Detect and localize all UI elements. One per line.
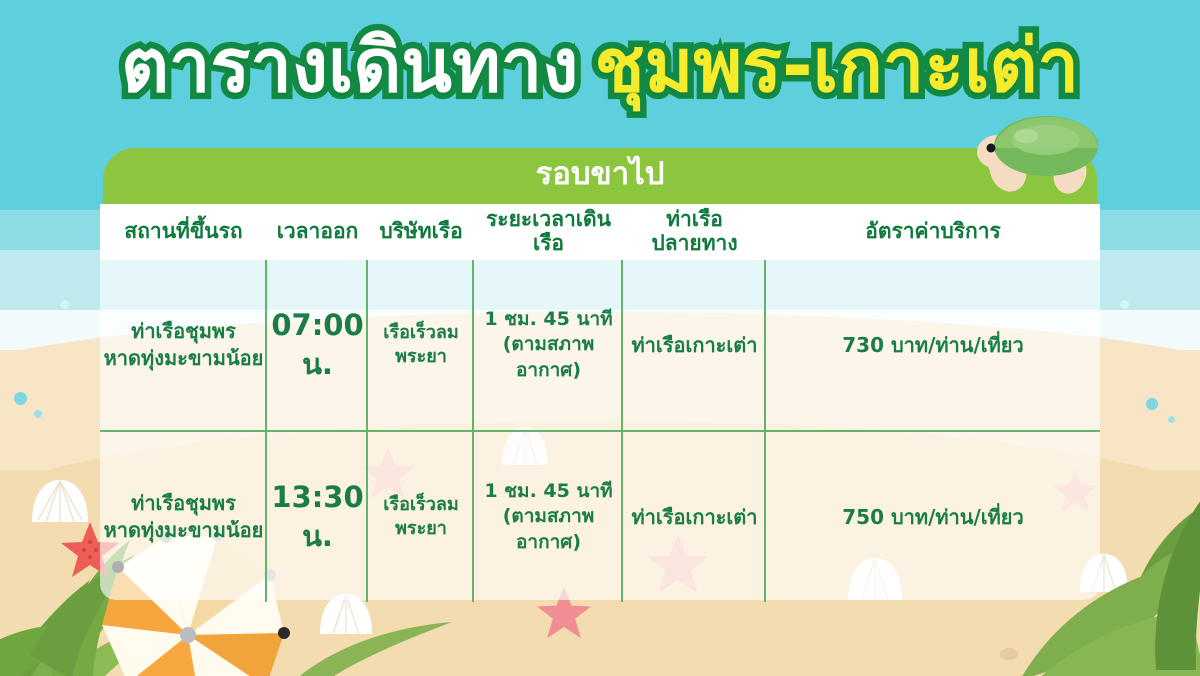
cell-operator-value: เรือเร็วลมพระยา [368,321,474,370]
cell-departure-time: 07:00 น. [267,260,368,430]
cell-origin-line1: ท่าเรือชุมพร [104,318,264,345]
schedule-body: ท่าเรือชุมพร หาดทุ่งมะขามน้อย 07:00 น. เ… [100,260,1100,600]
bubble-icon [1146,398,1158,410]
cell-origin-line2: หาดทุ่งมะขามน้อย [104,517,264,544]
column-header-departure-time-line1: เวลาออก [277,220,359,244]
cell-operator-value: เรือเร็วลมพระยา [368,493,474,542]
cell-fare-value: 730 บาท/ท่าน/เที่ยว [842,332,1023,359]
cell-operator: เรือเร็วลมพระยา [368,260,474,430]
schedule-banner-label: รอบขาไป [536,159,665,193]
sea-turtle-icon [962,108,1112,204]
cell-origin-line1: ท่าเรือชุมพร [104,490,264,517]
column-header-origin-line1: สถานที่ขึ้นรถ [124,220,242,244]
palm-leaf-icon [1096,470,1200,670]
cell-destination-value: ท่าเรือเกาะเต่า [632,504,758,531]
cell-duration-line1: 1 ชม. 45 นาที [474,307,623,333]
bubble-icon [34,410,42,418]
column-header-destination-line2: ปลายทาง [651,232,737,256]
cell-fare-value: 750 บาท/ท่าน/เที่ยว [842,504,1023,531]
poster-canvas: ตารางเดินทางชุมพร-เกาะเต่า รอบขาไป สถานท… [0,0,1200,676]
cell-duration: 1 ชม. 45 นาที (ตามสภาพอากาศ) [474,432,623,602]
cell-departure-time: 13:30 น. [267,432,368,602]
column-header-origin: สถานที่ขึ้นรถ [100,204,267,260]
cell-destination-value: ท่าเรือเกาะเต่า [632,332,758,359]
column-header-fare-line1: อัตราค่าบริการ [865,220,1001,244]
column-header-destination-line1: ท่าเรือ [651,208,737,232]
cell-operator: เรือเร็วลมพระยา [368,432,474,602]
table-row: ท่าเรือชุมพร หาดทุ่งมะขามน้อย 13:30 น. เ… [100,430,1100,602]
table-row: ท่าเรือชุมพร หาดทุ่งมะขามน้อย 07:00 น. เ… [100,260,1100,430]
bubble-icon [60,300,69,309]
poster-title: ตารางเดินทางชุมพร-เกาะเต่า [0,24,1200,109]
title-part-route: ชุมพร-เกาะเต่า [594,24,1079,109]
seashell-icon [30,478,90,526]
cell-origin: ท่าเรือชุมพร หาดทุ่งมะขามน้อย [100,432,267,602]
title-part-primary: ตารางเดินทาง [121,24,578,109]
cell-origin: ท่าเรือชุมพร หาดทุ่งมะขามน้อย [100,260,267,430]
cell-duration-line2: (ตามสภาพอากาศ) [474,504,623,555]
column-header-destination: ท่าเรือ ปลายทาง [623,204,766,260]
schedule-card: รอบขาไป สถานที่ขึ้นรถ เวลาออก [100,148,1100,600]
cell-duration-line2: (ตามสภาพอากาศ) [474,332,623,383]
cell-origin-line2: หาดทุ่งมะขามน้อย [104,345,264,372]
schedule-banner: รอบขาไป [103,148,1097,204]
palm-leaf-icon [284,610,454,676]
cell-departure-time-value: 07:00 น. [267,306,368,384]
cell-destination: ท่าเรือเกาะเต่า [623,432,766,602]
bubble-icon [1168,416,1175,423]
column-header-operator-line1: บริษัทเรือ [379,220,462,244]
column-header-departure-time: เวลาออก [267,204,368,260]
cell-fare: 730 บาท/ท่าน/เที่ยว [766,260,1100,430]
schedule-header-row: สถานที่ขึ้นรถ เวลาออก บริษัทเรือ ระยะเวล… [100,204,1100,260]
column-header-duration-line1: ระยะเวลาเดินเรือ [474,208,623,255]
bubble-icon [1120,300,1129,309]
cell-fare: 750 บาท/ท่าน/เที่ยว [766,432,1100,602]
bubble-icon [14,392,27,405]
column-header-duration: ระยะเวลาเดินเรือ [474,204,623,260]
cell-duration: 1 ชม. 45 นาที (ตามสภาพอากาศ) [474,260,623,430]
column-header-operator: บริษัทเรือ [368,204,474,260]
column-header-fare: อัตราค่าบริการ [766,204,1100,260]
cell-duration-line1: 1 ชม. 45 นาที [474,479,623,505]
cell-destination: ท่าเรือเกาะเต่า [623,260,766,430]
cell-departure-time-value: 13:30 น. [267,478,368,556]
